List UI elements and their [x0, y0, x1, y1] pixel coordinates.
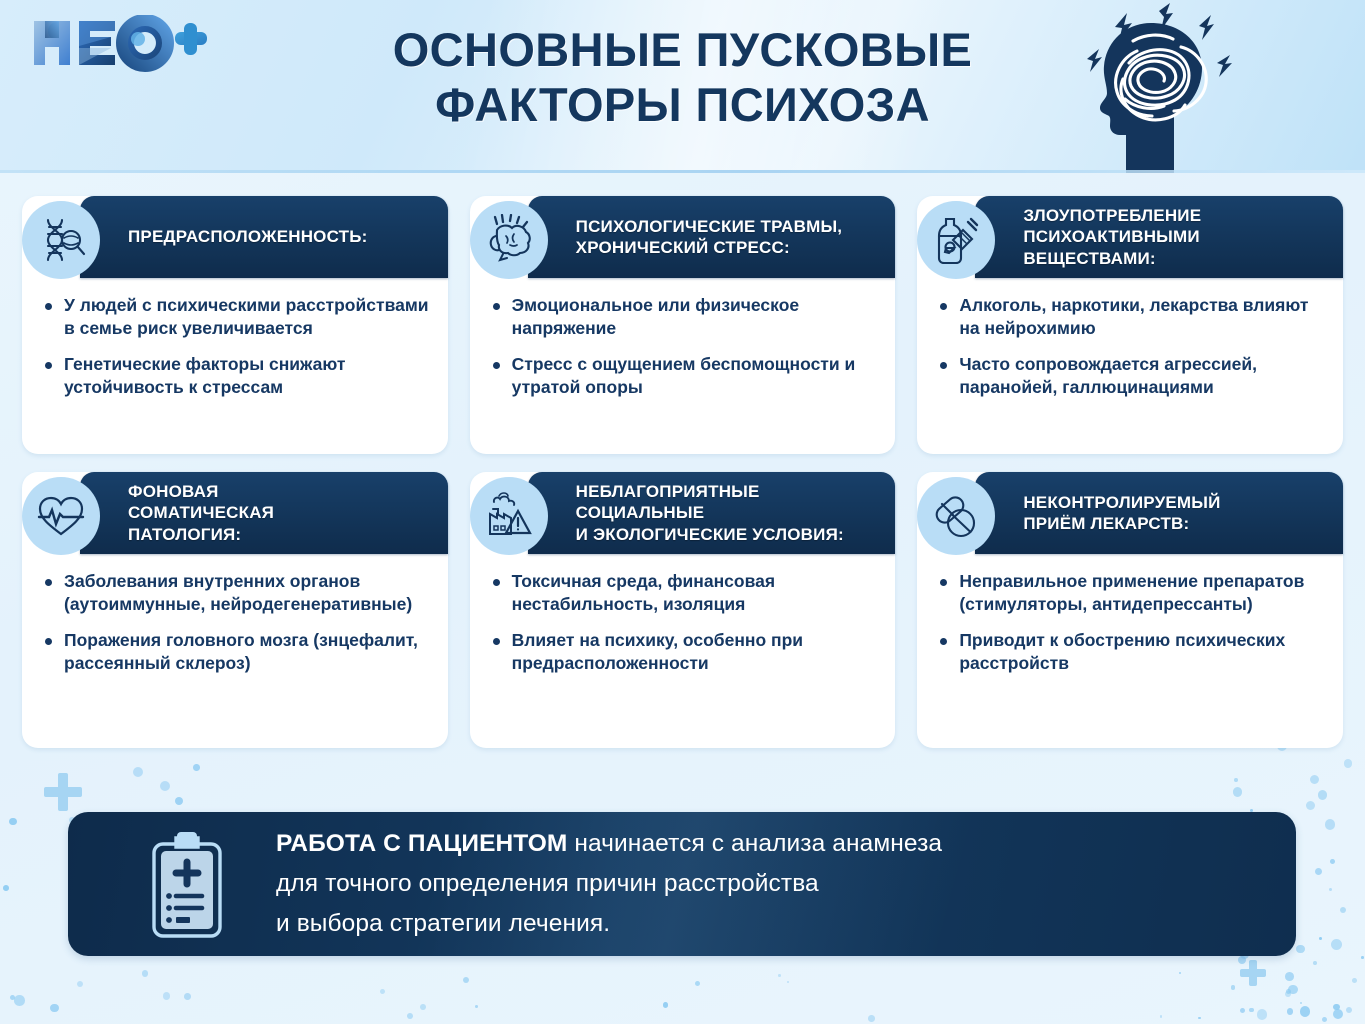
- decorative-dot: [193, 764, 200, 771]
- decorative-dot: [1231, 985, 1236, 990]
- decorative-dot: [1333, 1009, 1343, 1019]
- list-item: Влияет на психику, особенно при предрасп…: [486, 629, 878, 675]
- card-title-line: СОЦИАЛЬНЫЕ: [576, 502, 844, 523]
- list-item: Генетические факторы снижают устойчивост…: [38, 353, 430, 399]
- footer-line-1: РАБОТА С ПАЦИЕНТОМ начинается с анализа …: [276, 824, 942, 864]
- decorative-dot: [1352, 978, 1357, 983]
- decorative-dot: [133, 767, 143, 777]
- card-title-line: СОМАТИЧЕСКАЯ: [128, 502, 274, 523]
- decorative-dot: [1296, 945, 1305, 954]
- decorative-dot: [868, 1015, 875, 1022]
- dna-magnifier-icon: [22, 201, 100, 279]
- card-body: Неправильное применение препаратов (стим…: [917, 554, 1343, 693]
- decorative-dot: [1300, 1002, 1302, 1004]
- decorative-dot: [3, 885, 9, 891]
- list-item: Неправильное применение препаратов (стим…: [933, 570, 1325, 616]
- decorative-dot: [175, 797, 183, 805]
- decorative-dot: [420, 1004, 426, 1010]
- footer-line-1-bold: РАБОТА С ПАЦИЕНТОМ: [276, 830, 567, 857]
- decorative-dot: [1340, 907, 1347, 914]
- list-item: Алкоголь, наркотики, лекарства влияют на…: [933, 294, 1325, 340]
- card-title: НЕБЛАГОПРИЯТНЫЕ СОЦИАЛЬНЫЕ И ЭКОЛОГИЧЕСК…: [576, 481, 844, 544]
- decorative-dot: [1333, 1004, 1340, 1011]
- page-title: ОСНОВНЫЕ ПУСКОВЫЕ ФАКТОРЫ ПСИХОЗА: [300, 22, 1065, 133]
- card-header: ЗЛОУПОТРЕБЛЕНИЕ ПСИХОАКТИВНЫМИ ВЕЩЕСТВАМ…: [975, 196, 1343, 278]
- decorative-dot: [1285, 991, 1291, 997]
- clipboard-medical-icon: [140, 828, 234, 940]
- factor-card-predisposition: ПРЕДРАСПОЛОЖЕННОСТЬ: У людей с психическ…: [22, 196, 448, 454]
- decorative-dot: [1179, 972, 1181, 974]
- decorative-dot: [1330, 859, 1335, 864]
- decorative-dot: [163, 992, 171, 1000]
- decorative-plus-icon: [44, 773, 82, 811]
- stressed-brain-icon: [470, 201, 548, 279]
- list-item: У людей с психическими расстройствами в …: [38, 294, 430, 340]
- decorative-dot: [1306, 801, 1315, 810]
- factor-card-substance-abuse: ЗЛОУПОТРЕБЛЕНИЕ ПСИХОАКТИВНЫМИ ВЕЩЕСТВАМ…: [917, 196, 1343, 454]
- footer-line-2: для точного определения причин расстройс…: [276, 864, 942, 904]
- decorative-dot: [1325, 819, 1336, 830]
- heart-pulse-icon: [22, 477, 100, 555]
- card-title: НЕКОНТРОЛИРУЕМЫЙ ПРИЁМ ЛЕКАРСТВ:: [1023, 492, 1220, 534]
- decorative-dot: [1233, 787, 1242, 796]
- decorative-dot: [1287, 1008, 1294, 1015]
- decorative-dot: [50, 1004, 59, 1013]
- decorative-dot: [695, 981, 700, 986]
- card-body: У людей с психическими расстройствами в …: [22, 278, 448, 417]
- card-body: Заболевания внутренних органов (аутоимму…: [22, 554, 448, 693]
- page-title-line-2: ФАКТОРЫ ПСИХОЗА: [300, 77, 1065, 132]
- decorative-dot: [160, 781, 170, 791]
- card-title-line: И ЭКОЛОГИЧЕСКИЕ УСЛОВИЯ:: [576, 524, 844, 545]
- card-header: НЕКОНТРОЛИРУЕМЫЙ ПРИЁМ ЛЕКАРСТВ:: [975, 472, 1343, 554]
- card-title-line: ХРОНИЧЕСКИЙ СТРЕСС:: [576, 237, 843, 258]
- footer-line-1-rest: начинается с анализа анамнеза: [567, 830, 942, 857]
- list-item: Стресс с ощущением беспомощности и утрат…: [486, 353, 878, 399]
- bottle-syringe-icon: [917, 201, 995, 279]
- card-title: ФОНОВАЯ СОМАТИЧЕСКАЯ ПАТОЛОГИЯ:: [128, 481, 274, 544]
- decorative-dot: [1286, 989, 1291, 994]
- card-title-line: НЕКОНТРОЛИРУЕМЫЙ: [1023, 492, 1220, 513]
- list-item: Поражения головного мозга (знцефалит, ра…: [38, 629, 430, 675]
- card-title-line: ВЕЩЕСТВАМИ:: [1023, 248, 1201, 269]
- decorative-dot: [1322, 1017, 1327, 1022]
- decorative-dot: [1329, 888, 1332, 891]
- decorative-dot: [1331, 939, 1342, 950]
- list-item: Приводит к обострению психических расстр…: [933, 629, 1325, 675]
- factor-cards-grid: ПРЕДРАСПОЛОЖЕННОСТЬ: У людей с психическ…: [22, 196, 1343, 748]
- decorative-dot: [1234, 778, 1238, 782]
- footer-text: РАБОТА С ПАЦИЕНТОМ начинается с анализа …: [276, 824, 942, 943]
- list-item: Эмоциональное или физическое напряжение: [486, 294, 878, 340]
- card-title-line: ФОНОВАЯ: [128, 481, 274, 502]
- decorative-dot: [787, 981, 790, 984]
- card-title-line: ПСИХОАКТИВНЫМИ: [1023, 226, 1201, 247]
- footer-line-3: и выбора стратегии лечения.: [276, 904, 942, 944]
- header-band: ОСНОВНЫЕ ПУСКОВЫЕ ФАКТОРЫ ПСИХОЗА: [0, 0, 1365, 173]
- bullet-list: Эмоциональное или физическое напряжение …: [486, 294, 878, 399]
- decorative-dot: [1346, 1007, 1352, 1013]
- card-header: ФОНОВАЯ СОМАТИЧЕСКАЯ ПАТОЛОГИЯ:: [80, 472, 448, 554]
- list-item: Заболевания внутренних органов (аутоимму…: [38, 570, 430, 616]
- card-body: Эмоциональное или физическое напряжение …: [470, 278, 896, 417]
- decorative-dot: [1310, 775, 1319, 784]
- decorative-dot: [463, 977, 470, 984]
- card-title-line: ЗЛОУПОТРЕБЛЕНИЕ: [1023, 205, 1201, 226]
- decorative-dot: [1251, 968, 1256, 973]
- decorative-dot: [1288, 985, 1297, 994]
- neo-plus-logo: [27, 15, 211, 77]
- pills-icon: [917, 477, 995, 555]
- card-title-line: ПАТОЛОГИЯ:: [128, 524, 274, 545]
- footer-callout-banner: РАБОТА С ПАЦИЕНТОМ начинается с анализа …: [68, 812, 1296, 956]
- head-with-tangled-thoughts-illustration: [1063, 3, 1253, 173]
- list-item: Токсичная среда, финансовая нестабильнос…: [486, 570, 878, 616]
- bullet-list: Неправильное применение препаратов (стим…: [933, 570, 1325, 675]
- decorative-dot: [1315, 868, 1322, 875]
- decorative-dot: [184, 993, 191, 1000]
- decorative-dot: [1318, 790, 1328, 800]
- decorative-dot: [1198, 1017, 1201, 1020]
- decorative-dot: [407, 1013, 413, 1019]
- card-header: ПРЕДРАСПОЛОЖЕННОСТЬ:: [80, 196, 448, 278]
- factor-card-somatic-pathology: ФОНОВАЯ СОМАТИЧЕСКАЯ ПАТОЛОГИЯ: Заболева…: [22, 472, 448, 748]
- card-title: ПРЕДРАСПОЛОЖЕННОСТЬ:: [128, 226, 368, 247]
- card-header: ПСИХОЛОГИЧЕСКИЕ ТРАВМЫ, ХРОНИЧЕСКИЙ СТРЕ…: [528, 196, 896, 278]
- decorative-dot: [1319, 937, 1322, 940]
- list-item: Часто сопровождается агрессией, паранойе…: [933, 353, 1325, 399]
- decorative-dot: [1313, 961, 1317, 965]
- decorative-dot: [1238, 956, 1246, 964]
- card-title-line: ПРЕДРАСПОЛОЖЕННОСТЬ:: [128, 226, 368, 247]
- decorative-dot: [1300, 1006, 1311, 1017]
- decorative-plus-icon: [1240, 960, 1266, 986]
- decorative-dot: [663, 1002, 669, 1008]
- card-body: Алкоголь, наркотики, лекарства влияют на…: [917, 278, 1343, 417]
- decorative-dot: [1240, 1008, 1245, 1013]
- decorative-dot: [9, 818, 16, 825]
- decorative-dot: [1344, 759, 1353, 768]
- factor-card-psychological-trauma: ПСИХОЛОГИЧЕСКИЕ ТРАВМЫ, ХРОНИЧЕСКИЙ СТРЕ…: [470, 196, 896, 454]
- decorative-dot: [778, 974, 781, 977]
- decorative-dot: [1160, 1015, 1163, 1018]
- decorative-dot: [142, 970, 149, 977]
- bullet-list: Токсичная среда, финансовая нестабильнос…: [486, 570, 878, 675]
- card-title-line: НЕБЛАГОПРИЯТНЫЕ: [576, 481, 844, 502]
- card-title-line: ПСИХОЛОГИЧЕСКИЕ ТРАВМЫ,: [576, 216, 843, 237]
- factor-card-uncontrolled-medication: НЕКОНТРОЛИРУЕМЫЙ ПРИЁМ ЛЕКАРСТВ: Неправи…: [917, 472, 1343, 748]
- decorative-dot: [77, 981, 83, 987]
- bullet-list: У людей с психическими расстройствами в …: [38, 294, 430, 399]
- bullet-list: Алкоголь, наркотики, лекарства влияют на…: [933, 294, 1325, 399]
- decorative-dot: [475, 1005, 478, 1008]
- card-header: НЕБЛАГОПРИЯТНЫЕ СОЦИАЛЬНЫЕ И ЭКОЛОГИЧЕСК…: [528, 472, 896, 554]
- page-title-line-1: ОСНОВНЫЕ ПУСКОВЫЕ: [300, 22, 1065, 77]
- decorative-dot: [1245, 974, 1248, 977]
- factory-warning-icon: [470, 477, 548, 555]
- card-title-line: ПРИЁМ ЛЕКАРСТВ:: [1023, 513, 1220, 534]
- decorative-dot: [380, 989, 385, 994]
- bullet-list: Заболевания внутренних органов (аутоимму…: [38, 570, 430, 675]
- factor-card-social-ecological: НЕБЛАГОПРИЯТНЫЕ СОЦИАЛЬНЫЕ И ЭКОЛОГИЧЕСК…: [470, 472, 896, 748]
- decorative-dot: [10, 995, 15, 1000]
- decorative-dot: [1285, 972, 1294, 981]
- infographic-page: ОСНОВНЫЕ ПУСКОВЫЕ ФАКТОРЫ ПСИХОЗА: [0, 0, 1365, 1024]
- header-divider: [0, 170, 1365, 173]
- decorative-dot: [1249, 1008, 1254, 1013]
- card-body: Токсичная среда, финансовая нестабильнос…: [470, 554, 896, 693]
- card-title: ЗЛОУПОТРЕБЛЕНИЕ ПСИХОАКТИВНЫМИ ВЕЩЕСТВАМ…: [1023, 205, 1201, 268]
- card-title: ПСИХОЛОГИЧЕСКИЕ ТРАВМЫ, ХРОНИЧЕСКИЙ СТРЕ…: [576, 216, 843, 258]
- decorative-dot: [14, 995, 25, 1006]
- decorative-dot: [1257, 1009, 1267, 1019]
- decorative-dot: [1361, 956, 1364, 959]
